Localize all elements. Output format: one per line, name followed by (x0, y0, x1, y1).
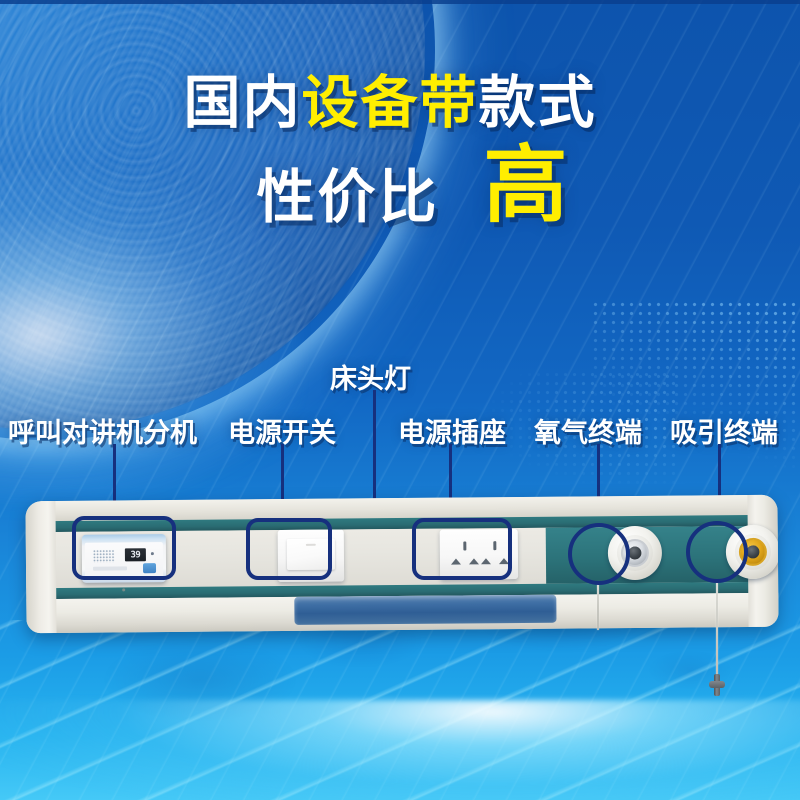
bed-head-unit-panel: 39 (25, 495, 778, 634)
callout-label-oxygen: 氧气终端 (534, 411, 642, 450)
status-led-icon (151, 552, 154, 555)
socket-outlet-right[interactable] (482, 541, 508, 567)
power-switch[interactable] (278, 530, 344, 583)
suction-terminal-port[interactable] (746, 545, 759, 558)
headline-line-1: 国内设备带款式 (0, 74, 800, 134)
switch-rocker[interactable] (287, 539, 335, 570)
callout-label-bedlamp: 床头灯 (330, 357, 411, 396)
panel-housing: 39 (25, 495, 778, 634)
intercom-faceplate: 39 (85, 542, 163, 579)
horizon-glow (0, 700, 800, 800)
oxygen-terminal-port[interactable] (628, 546, 641, 559)
headline-text-part1: 国内 (184, 71, 302, 135)
headline-value-label: 性价比 (256, 150, 439, 234)
callout-label-socket: 电源插座 (398, 411, 506, 450)
headline-value-word: 高 (484, 147, 568, 224)
switch-screw-icon (310, 576, 313, 579)
socket-pin-top-icon (493, 541, 496, 550)
callout-label-intercom: 呼叫对讲机分机 (8, 411, 197, 450)
speaker-grille-icon (93, 550, 115, 563)
oxygen-pull-cord[interactable] (597, 584, 599, 630)
suction-terminal[interactable]: VAC (726, 525, 779, 579)
intercom-display: 39 (125, 548, 146, 561)
headline-text-highlight: 设备带 (302, 71, 479, 135)
mounting-screw (122, 588, 125, 591)
panel-end-cap-left (25, 501, 56, 633)
pull-cord-weight[interactable] (709, 674, 725, 696)
socket-pin-left-icon (451, 558, 461, 564)
socket-pin-top-icon (463, 541, 466, 550)
headline-line-2: 性价比 高 (0, 150, 800, 234)
socket-pin-right-icon (469, 558, 479, 564)
bed-lamp-diffuser[interactable] (294, 595, 556, 625)
headline-text-part2: 款式 (479, 71, 597, 135)
socket-pin-left-icon (481, 558, 491, 564)
product-banner: 国内设备带款式 性价比 高 呼叫对讲机分机 电源开关 床头灯 电源插座 氧气终端… (0, 0, 800, 800)
intercom-call-button[interactable] (143, 563, 156, 573)
top-edge-bar (0, 0, 800, 4)
oxygen-terminal[interactable]: O2 (608, 526, 662, 580)
nurse-call-intercom-unit[interactable]: 39 (82, 534, 166, 583)
intercom-slot (93, 566, 127, 570)
socket-pin-right-icon (499, 558, 509, 564)
switch-nub-icon (306, 544, 316, 546)
callout-label-suction: 吸引终端 (670, 411, 778, 450)
power-socket[interactable] (440, 529, 518, 580)
headline-block: 国内设备带款式 性价比 高 (0, 74, 800, 234)
socket-outlet-left[interactable] (452, 541, 478, 567)
